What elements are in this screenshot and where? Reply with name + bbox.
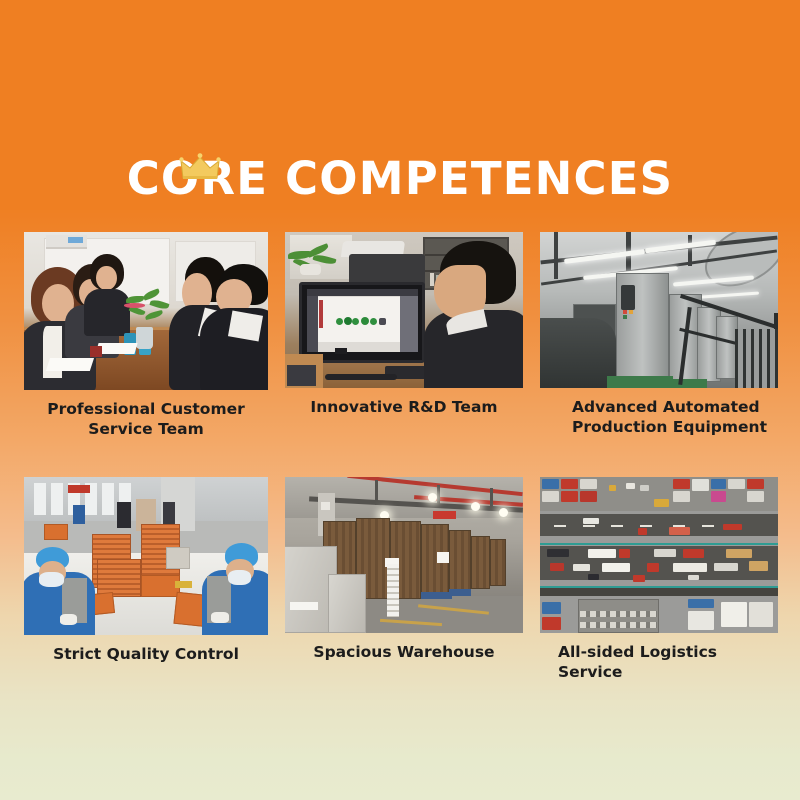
- caption-line-2: Service Team: [24, 419, 268, 439]
- caption-card-2: Innovative R&D Team: [285, 397, 523, 417]
- page-title-block: CORE COMPETENCES: [0, 150, 800, 208]
- photo-production-equipment: [540, 232, 778, 388]
- caption-line-1: Advanced Automated: [572, 397, 778, 417]
- photo-quality-control: [24, 477, 268, 635]
- photo-rd-designer: [285, 232, 523, 388]
- competences-grid: Professional Customer Service Team: [24, 232, 778, 682]
- caption-card-5: Spacious Warehouse: [285, 642, 523, 662]
- card-advanced-automated-production-equipment[interactable]: Advanced Automated Production Equipment: [540, 232, 778, 439]
- crown-icon: [179, 152, 221, 182]
- card-professional-customer-service-team[interactable]: Professional Customer Service Team: [24, 232, 268, 439]
- caption-line-1: Spacious Warehouse: [285, 642, 523, 662]
- card-all-sided-logistics-service[interactable]: All-sided Logistics Service: [540, 477, 778, 682]
- card-spacious-warehouse[interactable]: Spacious Warehouse: [285, 477, 523, 682]
- caption-line-1: All-sided Logistics Service: [558, 642, 778, 682]
- caption-line-2: Production Equipment: [572, 417, 778, 437]
- caption-card-4: Strict Quality Control: [24, 644, 268, 664]
- caption-card-3: Advanced Automated Production Equipment: [540, 397, 778, 437]
- caption-card-6: All-sided Logistics Service: [540, 642, 778, 682]
- card-innovative-rd-team[interactable]: Innovative R&D Team: [285, 232, 523, 439]
- caption-line-1: Professional Customer: [24, 399, 268, 419]
- photo-logistics-aerial: [540, 477, 778, 633]
- photo-warehouse: [285, 477, 523, 633]
- caption-line-1: Innovative R&D Team: [285, 397, 523, 417]
- photo-meeting-room: [24, 232, 268, 390]
- promo-banner: CORE COMPETENCES: [0, 0, 800, 800]
- caption-card-1: Professional Customer Service Team: [24, 399, 268, 439]
- card-strict-quality-control[interactable]: Strict Quality Control: [24, 477, 268, 682]
- caption-line-1: Strict Quality Control: [24, 644, 268, 664]
